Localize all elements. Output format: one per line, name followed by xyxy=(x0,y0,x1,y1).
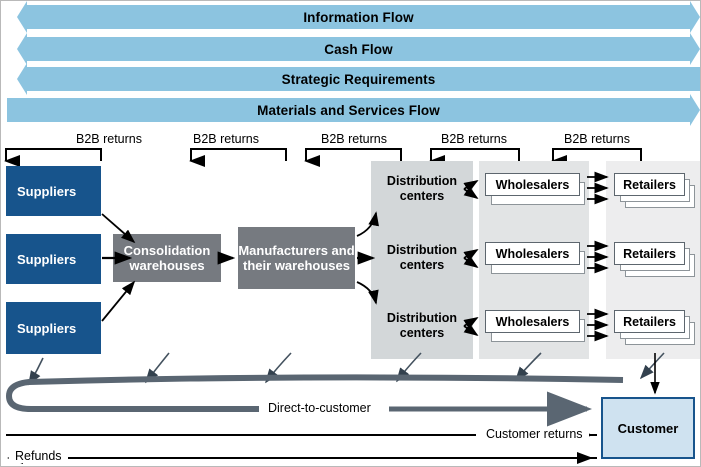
diagram-canvas: Information Flow Cash Flow Strategic Req… xyxy=(1,1,700,466)
banner-label: Strategic Requirements xyxy=(282,72,436,87)
direct-to-customer-label: Direct-to-customer xyxy=(262,401,377,415)
customer-returns-label: Customer returns xyxy=(480,427,589,441)
refunds-label: Refunds xyxy=(9,449,68,463)
customer-label: Customer xyxy=(618,421,679,436)
customer-box[interactable]: Customer xyxy=(601,397,695,459)
banner-label: Materials and Services Flow xyxy=(257,103,440,118)
banner-label: Cash Flow xyxy=(324,42,392,57)
banner-label: Information Flow xyxy=(303,10,413,25)
